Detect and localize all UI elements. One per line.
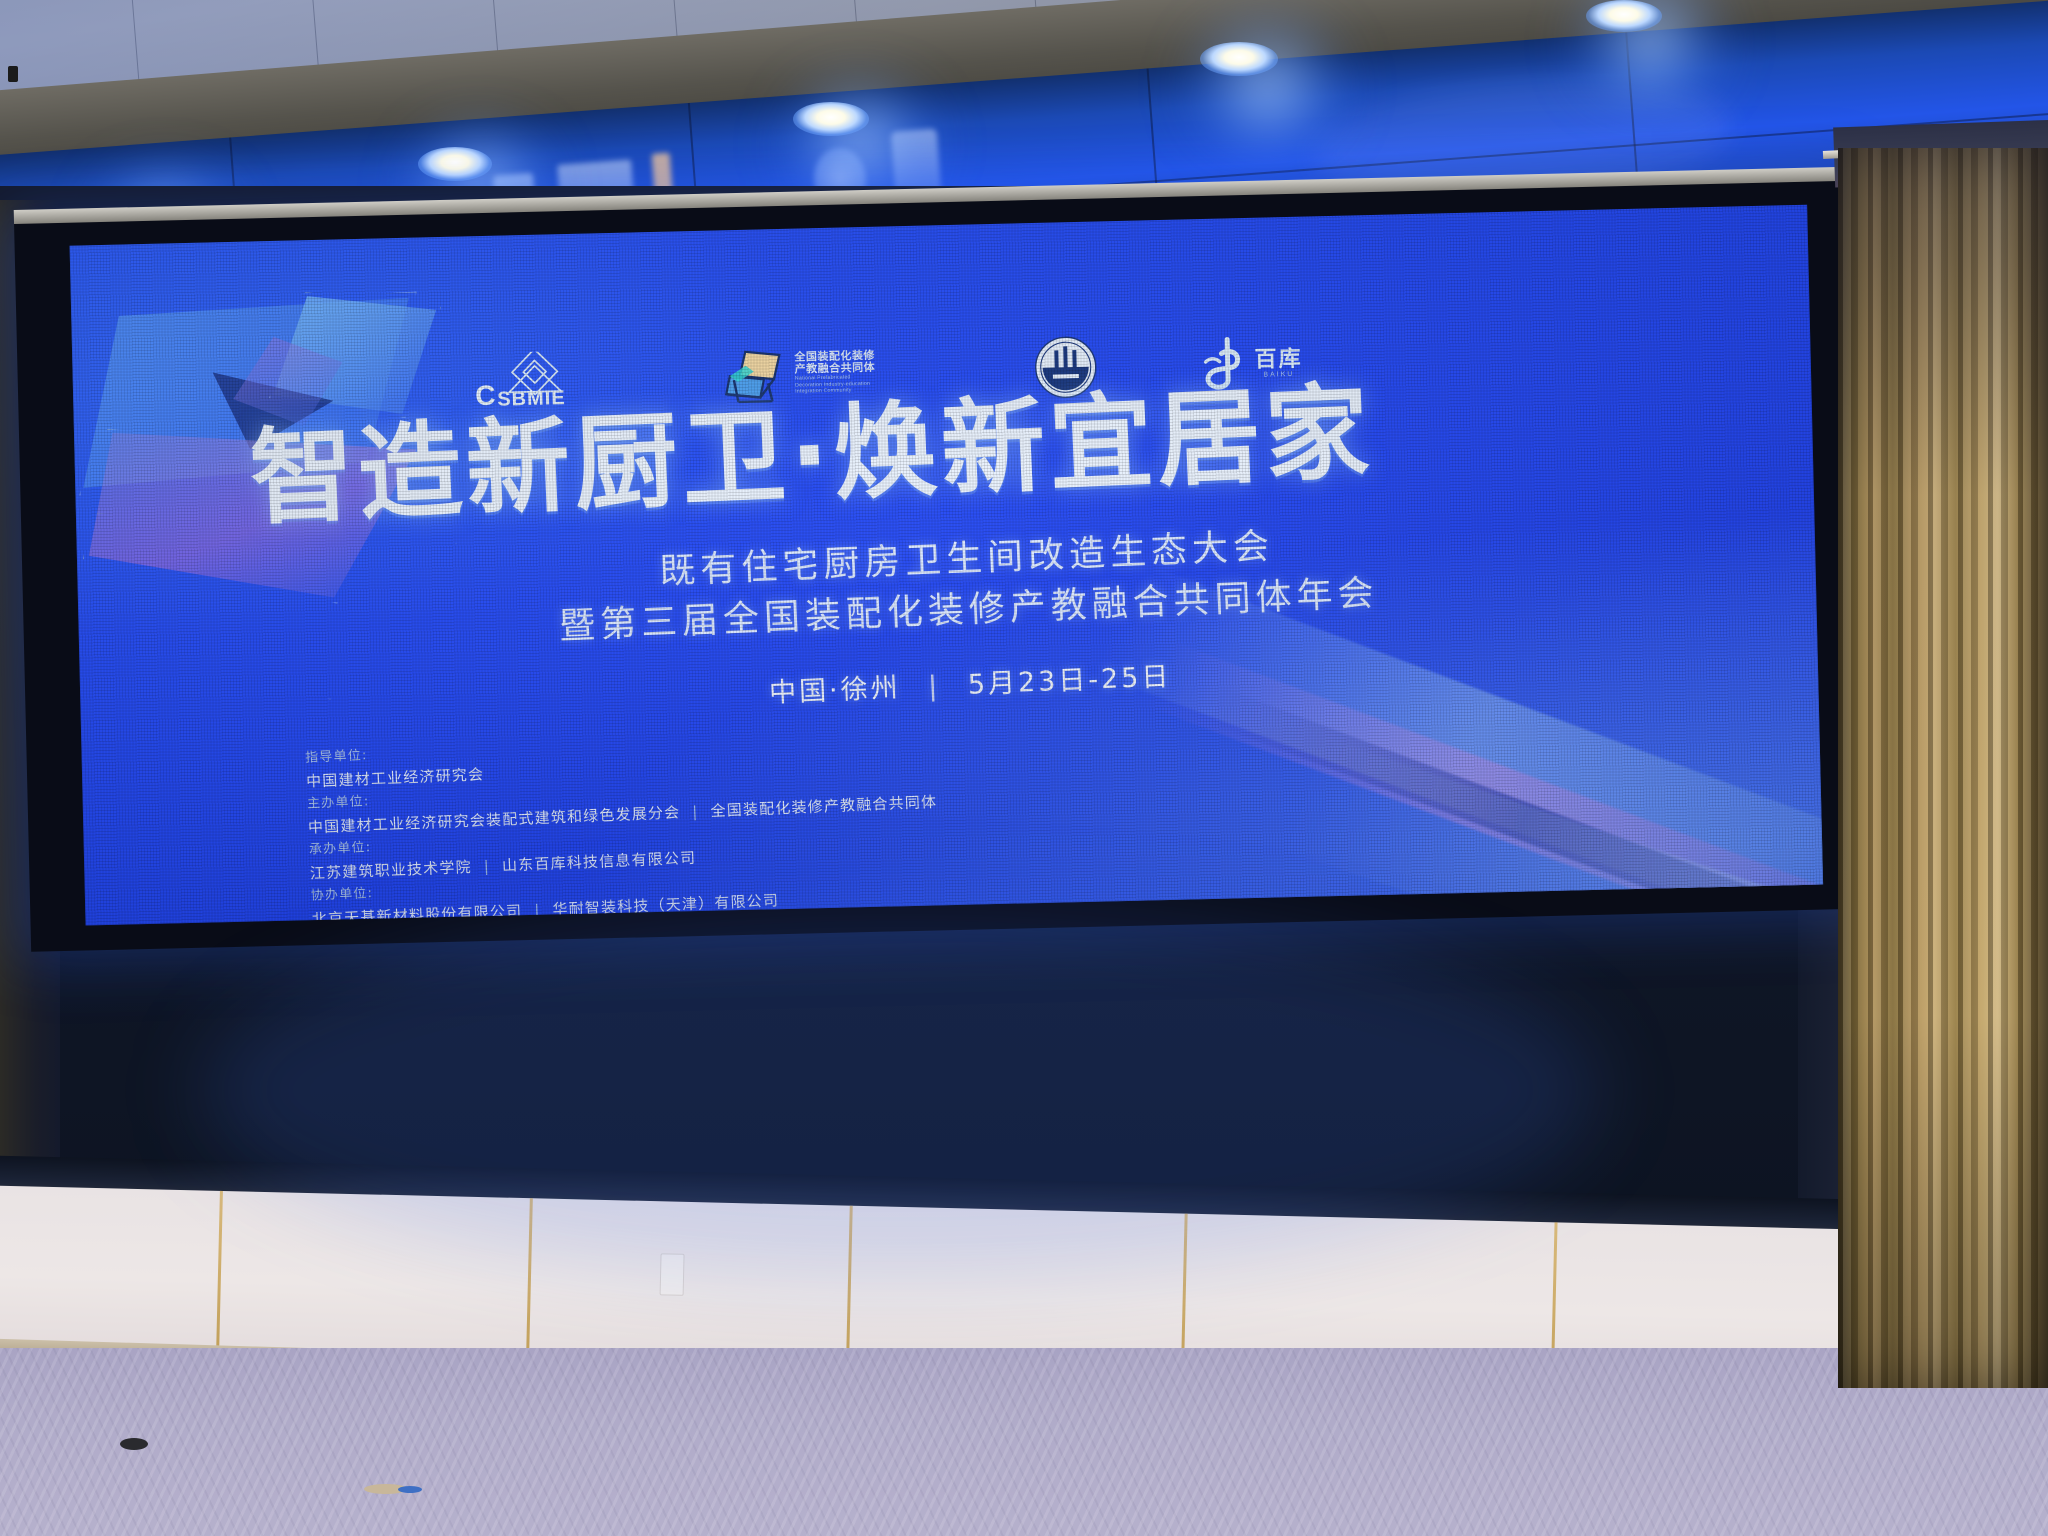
credit-separator: | xyxy=(852,912,859,925)
floor-carpet xyxy=(0,1348,2048,1536)
credit-organizer-1: 江苏建筑职业技术学院 xyxy=(310,858,473,883)
credit-separator: | xyxy=(483,857,490,875)
event-location: 中国·徐州 xyxy=(768,672,901,708)
credit-coorg-4: 中装绿建(上海)管理咨询有限公司 xyxy=(600,913,841,926)
wall-panel-divider xyxy=(216,1191,223,1371)
water-bottle xyxy=(168,1466,198,1536)
ceiling-light-3 xyxy=(793,102,869,136)
place-date-separator: | xyxy=(928,671,941,702)
water-bottle xyxy=(623,1508,653,1536)
curtain-shading xyxy=(1838,148,2048,1388)
event-subtitle: 既有住宅厨房卫生间改造生态大会 暨第三届全国装配化装修产教融合共同体年会 xyxy=(376,510,1559,660)
credit-separator: | xyxy=(534,901,541,919)
ceiling-light-4 xyxy=(1200,42,1278,76)
wall-outlet xyxy=(660,1253,685,1296)
svg-text:C: C xyxy=(475,380,496,410)
conference-hall-scene: C SBMIE 全国装配化装修 产教融合共同体 xyxy=(0,0,2048,1536)
floor-debris xyxy=(120,1438,148,1450)
stage-curtain[interactable] xyxy=(1838,148,2048,1388)
ceiling-light-5 xyxy=(1586,0,1662,32)
ceiling-light-2 xyxy=(418,147,492,181)
credit-coorg-2: 华耐智装科技（天津）有限公司 xyxy=(552,891,779,918)
csbmie-logo: C SBMIE xyxy=(472,350,623,410)
credit-separator: | xyxy=(692,803,699,821)
water-bottle xyxy=(375,1490,405,1536)
csbmie-mark-icon: C SBMIE xyxy=(472,350,623,410)
logo-cn-line-2: 产教融合共同体 xyxy=(795,362,876,376)
baiku-label: 百库 xyxy=(1254,346,1303,371)
ceiling-sprinkler-icon xyxy=(8,66,18,82)
credit-separator: | xyxy=(581,923,588,925)
led-screen[interactable]: C SBMIE 全国装配化装修 产教融合共同体 xyxy=(70,205,1824,926)
carpet-texture xyxy=(0,1348,2048,1536)
credit-organizer-2: 山东百库科技信息有限公司 xyxy=(502,849,697,875)
ceiling-light-glow xyxy=(1175,22,1360,152)
credit-coorg-1: 北京天基新材料股份有限公司 xyxy=(311,902,522,926)
credit-coorg-3: 万华普罗米(北京)智能科技有限公司 xyxy=(312,924,570,926)
event-date: 5月23日-25日 xyxy=(967,661,1172,700)
led-screen-frame: C SBMIE 全国装配化装修 产教融合共同体 xyxy=(14,179,1861,952)
